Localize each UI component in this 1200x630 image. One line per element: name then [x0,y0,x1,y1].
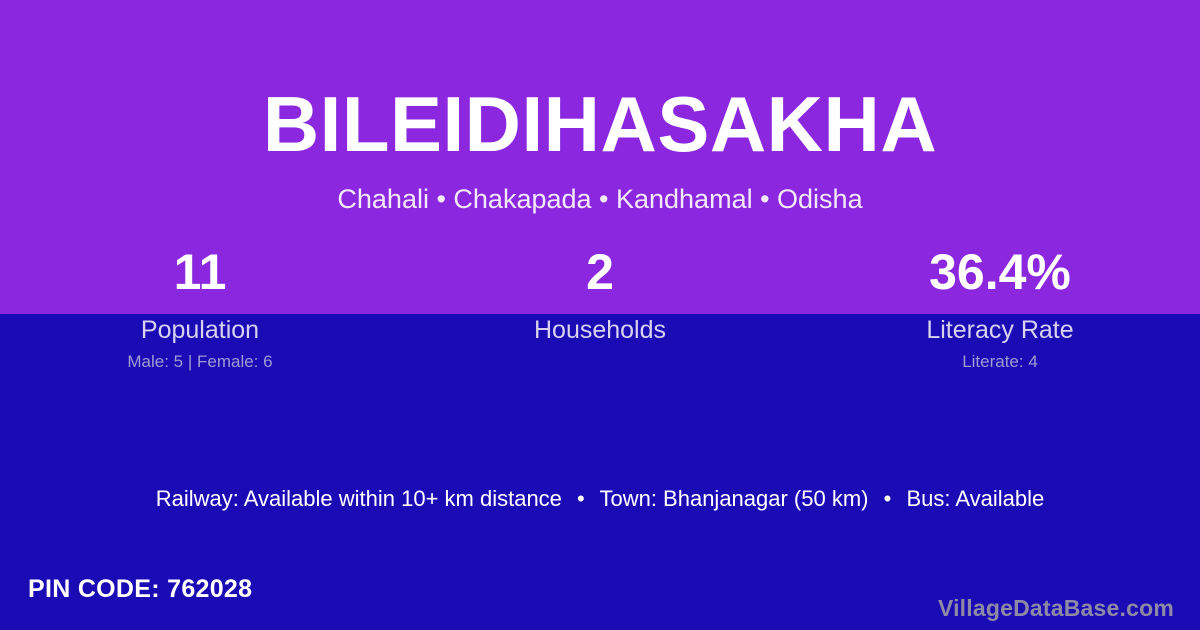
amenity-bus: Bus: Available [906,486,1044,511]
amenity-separator-1: • [568,485,594,513]
stat-literacy-rate: 36.4% Literacy Rate Literate: 4 [800,244,1200,384]
stat-population: 11 Population Male: 5 | Female: 6 [0,244,400,384]
breadcrumb: Chahali • Chakapada • Kandhamal • Odisha [0,183,1200,215]
amenity-railway: Railway: Available within 10+ km distanc… [156,486,562,511]
stat-population-label: Population [141,316,259,344]
stats-row: 11 Population Male: 5 | Female: 6 2 Hous… [0,244,1200,384]
stat-population-value: 11 [174,244,227,300]
stat-households-value: 2 [586,244,614,300]
stat-population-detail: Male: 5 | Female: 6 [127,352,272,372]
stat-literacy-rate-label: Literacy Rate [926,316,1073,344]
pin-code: PIN CODE: 762028 [28,574,252,604]
footer: PIN CODE: 762028 VillageDataBase.com [0,570,1200,630]
stat-households-label: Households [534,316,666,344]
stat-households: 2 Households [400,244,800,384]
page-title: BILEIDIHASAKHA [0,82,1200,166]
site-brand: VillageDataBase.com [938,594,1174,622]
village-info-card: BILEIDIHASAKHA Chahali • Chakapada • Kan… [0,0,1200,630]
stat-literacy-rate-detail: Literate: 4 [962,352,1038,372]
amenity-town: Town: Bhanjanagar (50 km) [599,486,868,511]
amenities-line: Railway: Available within 10+ km distanc… [0,485,1200,513]
stat-literacy-rate-value: 36.4% [929,244,1071,300]
amenity-separator-2: • [875,485,901,513]
